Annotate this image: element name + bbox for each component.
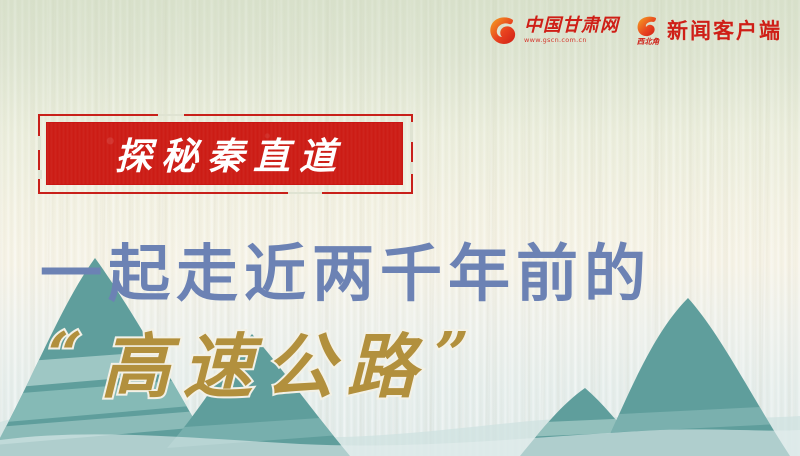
headline-line-two-text: 高速公路: [83, 332, 435, 402]
logo-news-client-name: 新闻客户端: [667, 15, 782, 45]
logo-gansu-net-name: 中国甘肃网: [524, 17, 619, 35]
headline-line-one: 一起走近两千年前的: [40, 243, 652, 305]
logo-gansu-net-url: www.gscn.com.cn: [524, 37, 619, 44]
logo-gansu-net[interactable]: 中国甘肃网 www.gscn.com.cn: [488, 14, 619, 46]
stamp-title-text: 探秘秦直道: [38, 114, 413, 194]
logo-xibeijiao-seal-text: 西北角: [637, 37, 660, 45]
gansu-net-swirl-icon: [488, 14, 518, 46]
poster-canvas: 中国甘肃网 www.gscn.com.cn 西北角 新闻客户端: [0, 0, 800, 456]
xibeijiao-swirl-icon: 西北角: [635, 15, 661, 45]
headline-line-two: “ 高速公路 ”: [48, 332, 469, 402]
header-logo-group: 中国甘肃网 www.gscn.com.cn 西北角 新闻客户端: [488, 14, 782, 46]
headline-quote-open: “: [48, 325, 83, 385]
headline-quote-close: ”: [435, 325, 470, 385]
stamp-banner: 探秘秦直道: [38, 114, 413, 194]
logo-news-client[interactable]: 西北角 新闻客户端: [635, 15, 782, 45]
